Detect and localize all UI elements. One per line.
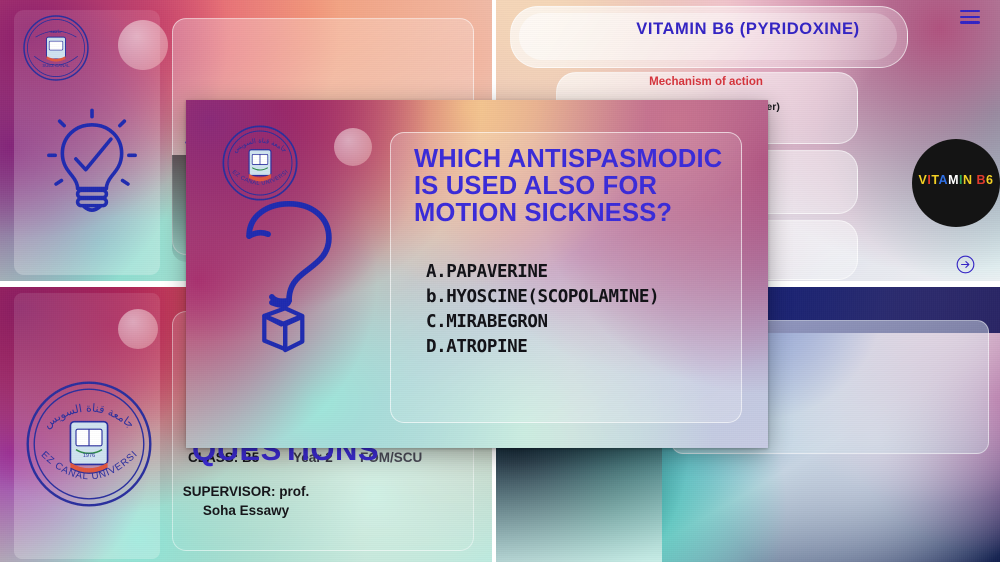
question-line: IS USED ALSO FOR — [414, 173, 734, 200]
arrow-right-circle-icon[interactable] — [956, 255, 975, 274]
slide-overview-stage: جامعة SUEZ CANAL A VITAMIN B6 (PYRIDOXIN… — [0, 0, 1000, 562]
suez-canal-university-logo-icon: جامعة قناة السويس SUEZ CANAL UNIVERSITY — [221, 124, 299, 202]
vitamin-b6-badge-label: VITAMIN B6 — [912, 173, 1000, 187]
supervisor-line-1: SUPERVISOR: prof. — [0, 484, 492, 499]
answer-option-b[interactable]: b.HYOSCINE(SCOPOLAMINE) — [426, 285, 756, 310]
answer-options-list: A.PAPAVERINE b.HYOSCINE(SCOPOLAMINE) C.M… — [426, 260, 756, 359]
decorative-circle — [334, 128, 372, 166]
decorative-circle — [118, 309, 158, 349]
mechanism-of-action-heading: Mechanism of action — [556, 76, 856, 88]
question-mark-icon — [232, 196, 346, 356]
answer-option-c[interactable]: C.MIRABEGRON — [426, 310, 756, 335]
slide-mcq-active[interactable]: جامعة قناة السويس SUEZ CANAL UNIVERSITY — [186, 100, 768, 448]
question-line: MOTION SICKNESS? — [414, 200, 734, 227]
svg-text:جامعة: جامعة — [50, 29, 62, 35]
hamburger-menu-icon[interactable] — [960, 10, 980, 24]
answer-option-a[interactable]: A.PAPAVERINE — [426, 260, 756, 285]
question-line: WHICH ANTISPASMODIC — [414, 146, 734, 173]
lightbulb-check-icon — [38, 105, 146, 220]
vitamin-b6-title: VITAMIN B6 (PYRIDOXINE) — [496, 20, 1000, 39]
question-text: WHICH ANTISPASMODIC IS USED ALSO FOR MOT… — [414, 146, 734, 227]
decorative-circle — [118, 20, 168, 70]
svg-text:1976: 1976 — [83, 453, 95, 459]
answer-option-d[interactable]: D.ATROPINE — [426, 335, 756, 360]
suez-canal-university-logo-icon: جامعة SUEZ CANAL — [22, 14, 90, 82]
svg-text:SUEZ CANAL: SUEZ CANAL — [42, 63, 70, 68]
supervisor-line-2: Soha Essawy — [0, 503, 492, 518]
vitamin-b6-badge: VITAMIN B6 — [912, 139, 1000, 227]
